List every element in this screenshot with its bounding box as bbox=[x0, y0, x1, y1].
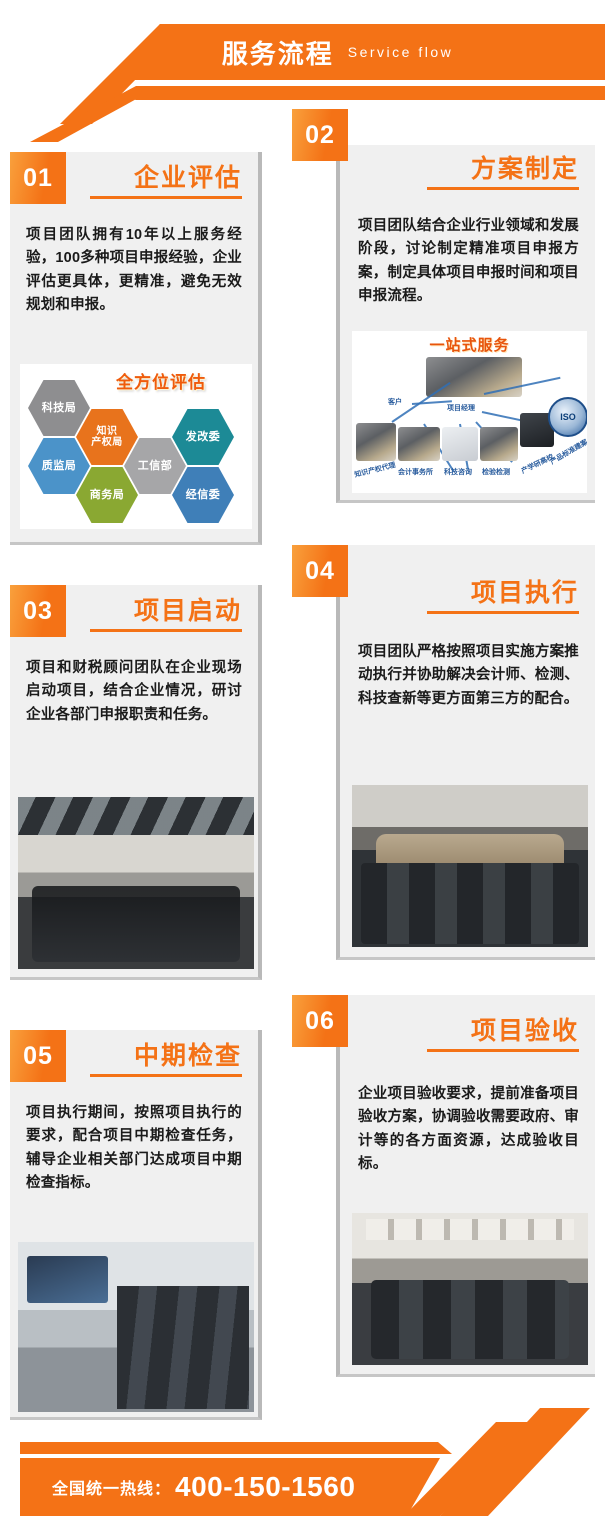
hexagon-node-gongxin-bu: 工信部 bbox=[124, 438, 186, 494]
card-header-06: 项目验收 bbox=[340, 995, 595, 1053]
card-body-05: 项目执行期间，按照项目执行的要求，配合项目中期检查任务，辅导企业相关部门达成项目… bbox=[26, 1102, 242, 1196]
hexagon-node-keji-ju: 科技局 bbox=[28, 380, 90, 436]
card-body-04: 项目团队严格按照项目实施方案推动执行并协助解决会计师、检测、科技查新等更方面第三… bbox=[358, 641, 579, 711]
card-photo-05 bbox=[18, 1242, 254, 1412]
card-header-04: 项目执行 bbox=[340, 545, 595, 603]
service-branch-label-2: 会计事务所 bbox=[398, 467, 433, 477]
card-body-02: 项目团队结合企业行业领域和发展阶段，讨论制定精准项目申报方案，制定具体项目申报时… bbox=[358, 215, 579, 309]
step-card-01[interactable]: 01 企业评估 项目团队拥有10年以上服务经验，100多种项目申报经验，企业评估… bbox=[10, 152, 262, 545]
card-body-01: 项目团队拥有10年以上服务经验，100多种项目申报经验，企业评估更具体，更精准，… bbox=[26, 224, 242, 318]
hexagon-node-zhijian-ju: 质监局 bbox=[28, 438, 90, 494]
hexagon-node-zhishi-chanquan-ju: 知识产权局 bbox=[76, 409, 138, 465]
service-node-manager: 项目经理 bbox=[447, 403, 475, 413]
service-branch-label-5: 产学研高校 bbox=[520, 452, 556, 476]
service-photo-inspection bbox=[480, 427, 518, 461]
hexagon-evaluation-graphic: 全方位评估 科技局 知识产权局 质监局 工信部 商务局 发改委 经信委 bbox=[20, 364, 252, 529]
service-photo-consulting bbox=[442, 427, 478, 461]
service-photo-ip bbox=[356, 423, 396, 461]
card-title-rule-01 bbox=[90, 196, 242, 199]
hexagon-node-shangwu-ju: 商务局 bbox=[76, 467, 138, 523]
service-flow-infographic: 服务流程 Service flow 01 企业评估 项目团队拥有10年以上服务经… bbox=[0, 0, 605, 1538]
hexagon-node-fagai-wei: 发改委 bbox=[172, 409, 234, 465]
hexagon-node-jingxin-wei: 经信委 bbox=[172, 467, 234, 523]
hexagon-graphic-title: 全方位评估 bbox=[116, 368, 206, 393]
service-graphic-title: 一站式服务 bbox=[429, 334, 509, 355]
card-title-rule-02 bbox=[427, 187, 579, 190]
card-title-03: 项目启动 bbox=[134, 591, 242, 627]
page-title: 服务流程 bbox=[222, 34, 334, 71]
step-card-03[interactable]: 03 项目启动 项目和财税顾问团队在企业现场启动项目，结合企业情况，研讨企业各部… bbox=[10, 585, 262, 980]
page-subtitle: Service flow bbox=[348, 44, 453, 60]
hotline-label: 全国统一热线： bbox=[52, 1475, 171, 1499]
step-card-06[interactable]: 06 项目验收 企业项目验收要求，提前准备项目验收方案，协调验收需要政府、审计等… bbox=[336, 995, 595, 1377]
service-branch-label-1: 知识产权代理 bbox=[353, 460, 396, 480]
service-center-photo bbox=[426, 357, 522, 397]
step-card-02[interactable]: 02 方案制定 项目团队结合企业行业领域和发展阶段，讨论制定精准项目申报方案，制… bbox=[336, 145, 595, 503]
service-photo-accounting bbox=[398, 427, 440, 461]
service-branch-label-4: 检验检测 bbox=[482, 467, 510, 477]
hotline-number[interactable]: 400-150-1560 bbox=[175, 1471, 355, 1503]
step-card-04[interactable]: 04 项目执行 项目团队严格按照项目实施方案推动执行并协助解决会计师、检测、科技… bbox=[336, 545, 595, 960]
card-title-01: 企业评估 bbox=[134, 158, 242, 194]
step-number-badge-06: 06 bbox=[292, 995, 348, 1047]
card-body-06: 企业项目验收要求，提前准备项目验收方案，协调验收需要政府、审计等的各方面资源，达… bbox=[358, 1083, 579, 1177]
card-photo-03 bbox=[18, 797, 254, 969]
header-title-group: 服务流程 Service flow bbox=[0, 24, 605, 80]
step-number-badge-01: 01 bbox=[10, 152, 66, 204]
card-photo-04 bbox=[352, 785, 588, 947]
service-branch-label-6: 产品标准建案 bbox=[548, 437, 587, 467]
card-title-rule-06 bbox=[427, 1049, 579, 1052]
card-title-06: 项目验收 bbox=[471, 1011, 579, 1047]
service-iso-seal-icon: ISO bbox=[548, 397, 587, 437]
card-title-rule-04 bbox=[427, 611, 579, 614]
card-header-02: 方案制定 bbox=[340, 145, 595, 203]
header-banner: 服务流程 Service flow bbox=[0, 0, 605, 112]
step-number-badge-05: 05 bbox=[10, 1030, 66, 1082]
step-number-badge-03: 03 bbox=[10, 585, 66, 637]
step-number-badge-04: 04 bbox=[292, 545, 348, 597]
card-title-05: 中期检查 bbox=[134, 1036, 242, 1072]
one-stop-service-graphic: 一站式服务 客户 项目经理 ISO 知识产权代理 会计事务所 科技咨询 检验检测… bbox=[352, 331, 587, 493]
footer-hotline-bar: 全国统一热线： 400-150-1560 bbox=[0, 1408, 605, 1538]
service-branch-label-3: 科技咨询 bbox=[444, 467, 472, 477]
card-title-rule-03 bbox=[90, 629, 242, 632]
card-title-02: 方案制定 bbox=[471, 149, 579, 185]
step-number-badge-02: 02 bbox=[292, 109, 348, 161]
footer-text-group: 全国统一热线： 400-150-1560 bbox=[52, 1458, 355, 1516]
card-title-rule-05 bbox=[90, 1074, 242, 1077]
card-body-03: 项目和财税顾问团队在企业现场启动项目，结合企业情况，研讨企业各部门申报职责和任务… bbox=[26, 657, 242, 727]
service-node-client: 客户 bbox=[388, 397, 402, 407]
step-card-05[interactable]: 05 中期检查 项目执行期间，按照项目执行的要求，配合项目中期检查任务，辅导企业… bbox=[10, 1030, 262, 1420]
card-photo-06 bbox=[352, 1213, 588, 1365]
card-title-04: 项目执行 bbox=[471, 573, 579, 609]
